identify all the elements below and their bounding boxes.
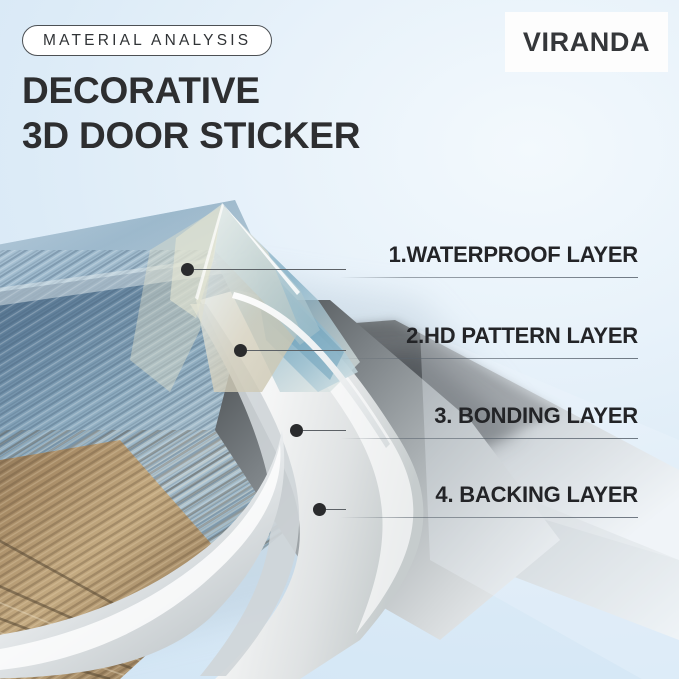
eyebrow-badge: MATERIAL ANALYSIS	[22, 25, 272, 56]
poster-canvas: MATERIAL ANALYSIS DECORATIVE 3D DOOR STI…	[0, 0, 679, 679]
callout-label-3: 3. BONDING LAYER	[434, 403, 638, 429]
callout-label-1: 1.WATERPROOF LAYER	[389, 242, 638, 268]
callout-rule-4	[340, 517, 638, 518]
callout-dot-4	[313, 503, 326, 516]
callout-rule-2	[340, 358, 638, 359]
page-title-line-1: DECORATIVE	[22, 68, 360, 113]
callout-leader-2	[247, 350, 346, 351]
callout-leader-3	[303, 430, 346, 431]
eyebrow-label: MATERIAL ANALYSIS	[43, 32, 251, 50]
page-title-line-2: 3D DOOR STICKER	[22, 113, 360, 158]
callout-label-4: 4. BACKING LAYER	[435, 482, 638, 508]
callout-dot-2	[234, 344, 247, 357]
callout-dot-1	[181, 263, 194, 276]
callout-dot-3	[290, 424, 303, 437]
callout-leader-4	[326, 509, 346, 510]
callout-leader-1	[194, 269, 346, 270]
brand-logo: VIRANDA	[505, 12, 668, 72]
brand-logo-label: VIRANDA	[523, 27, 650, 58]
callout-rule-1	[340, 277, 638, 278]
callout-label-2: 2.HD PATTERN LAYER	[406, 323, 638, 349]
callout-rule-3	[340, 438, 638, 439]
page-title: DECORATIVE 3D DOOR STICKER	[22, 68, 360, 158]
